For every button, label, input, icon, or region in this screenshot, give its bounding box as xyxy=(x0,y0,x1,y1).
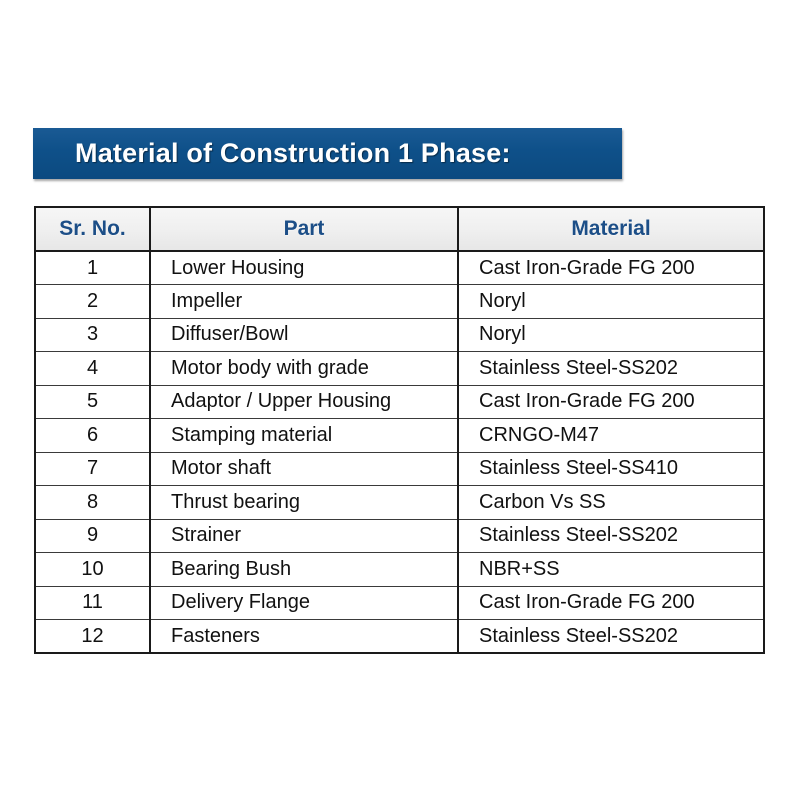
cell-part: Motor shaft xyxy=(150,452,458,486)
cell-sr-no: 6 xyxy=(35,419,150,453)
cell-part: Delivery Flange xyxy=(150,586,458,620)
table-row: 5Adaptor / Upper HousingCast Iron-Grade … xyxy=(35,385,764,419)
cell-material: Stainless Steel-SS202 xyxy=(458,352,764,386)
cell-material: NBR+SS xyxy=(458,553,764,587)
cell-material: CRNGO-M47 xyxy=(458,419,764,453)
table-row: 12FastenersStainless Steel-SS202 xyxy=(35,620,764,654)
material-of-construction-table-wrapper: Sr. No. Part Material 1Lower HousingCast… xyxy=(34,206,763,654)
section-banner: Material of Construction 1 Phase: xyxy=(33,128,622,179)
cell-part: Lower Housing xyxy=(150,251,458,285)
table-header-row: Sr. No. Part Material xyxy=(35,207,764,251)
material-of-construction-table: Sr. No. Part Material 1Lower HousingCast… xyxy=(34,206,765,654)
table-row: 7Motor shaftStainless Steel-SS410 xyxy=(35,452,764,486)
cell-sr-no: 11 xyxy=(35,586,150,620)
cell-sr-no: 1 xyxy=(35,251,150,285)
page-root: Material of Construction 1 Phase: Sr. No… xyxy=(0,0,800,800)
page-title: Material of Construction 1 Phase: xyxy=(75,140,511,167)
table-row: 9StrainerStainless Steel-SS202 xyxy=(35,519,764,553)
table-row: 10Bearing BushNBR+SS xyxy=(35,553,764,587)
cell-part: Diffuser/Bowl xyxy=(150,318,458,352)
cell-material: Cast Iron-Grade FG 200 xyxy=(458,586,764,620)
cell-part: Bearing Bush xyxy=(150,553,458,587)
cell-sr-no: 2 xyxy=(35,285,150,319)
table-row: 11Delivery FlangeCast Iron-Grade FG 200 xyxy=(35,586,764,620)
table-header: Sr. No. Part Material xyxy=(35,207,764,251)
table-row: 3Diffuser/BowlNoryl xyxy=(35,318,764,352)
cell-part: Impeller xyxy=(150,285,458,319)
table-row: 2ImpellerNoryl xyxy=(35,285,764,319)
table-row: 6Stamping materialCRNGO-M47 xyxy=(35,419,764,453)
cell-material: Stainless Steel-SS410 xyxy=(458,452,764,486)
cell-material: Cast Iron-Grade FG 200 xyxy=(458,385,764,419)
cell-sr-no: 10 xyxy=(35,553,150,587)
cell-part: Adaptor / Upper Housing xyxy=(150,385,458,419)
cell-sr-no: 9 xyxy=(35,519,150,553)
table-row: 8Thrust bearingCarbon Vs SS xyxy=(35,486,764,520)
cell-material: Noryl xyxy=(458,318,764,352)
cell-sr-no: 12 xyxy=(35,620,150,654)
table-row: 1Lower HousingCast Iron-Grade FG 200 xyxy=(35,251,764,285)
column-header-material: Material xyxy=(458,207,764,251)
cell-part: Stamping material xyxy=(150,419,458,453)
cell-material: Stainless Steel-SS202 xyxy=(458,519,764,553)
table-row: 4Motor body with gradeStainless Steel-SS… xyxy=(35,352,764,386)
cell-sr-no: 5 xyxy=(35,385,150,419)
column-header-part: Part xyxy=(150,207,458,251)
cell-part: Motor body with grade xyxy=(150,352,458,386)
cell-part: Fasteners xyxy=(150,620,458,654)
table-body: 1Lower HousingCast Iron-Grade FG 2002Imp… xyxy=(35,251,764,653)
cell-material: Noryl xyxy=(458,285,764,319)
column-header-sr-no: Sr. No. xyxy=(35,207,150,251)
cell-material: Stainless Steel-SS202 xyxy=(458,620,764,654)
cell-part: Thrust bearing xyxy=(150,486,458,520)
cell-sr-no: 8 xyxy=(35,486,150,520)
cell-sr-no: 7 xyxy=(35,452,150,486)
cell-material: Cast Iron-Grade FG 200 xyxy=(458,251,764,285)
cell-material: Carbon Vs SS xyxy=(458,486,764,520)
cell-sr-no: 3 xyxy=(35,318,150,352)
cell-part: Strainer xyxy=(150,519,458,553)
cell-sr-no: 4 xyxy=(35,352,150,386)
